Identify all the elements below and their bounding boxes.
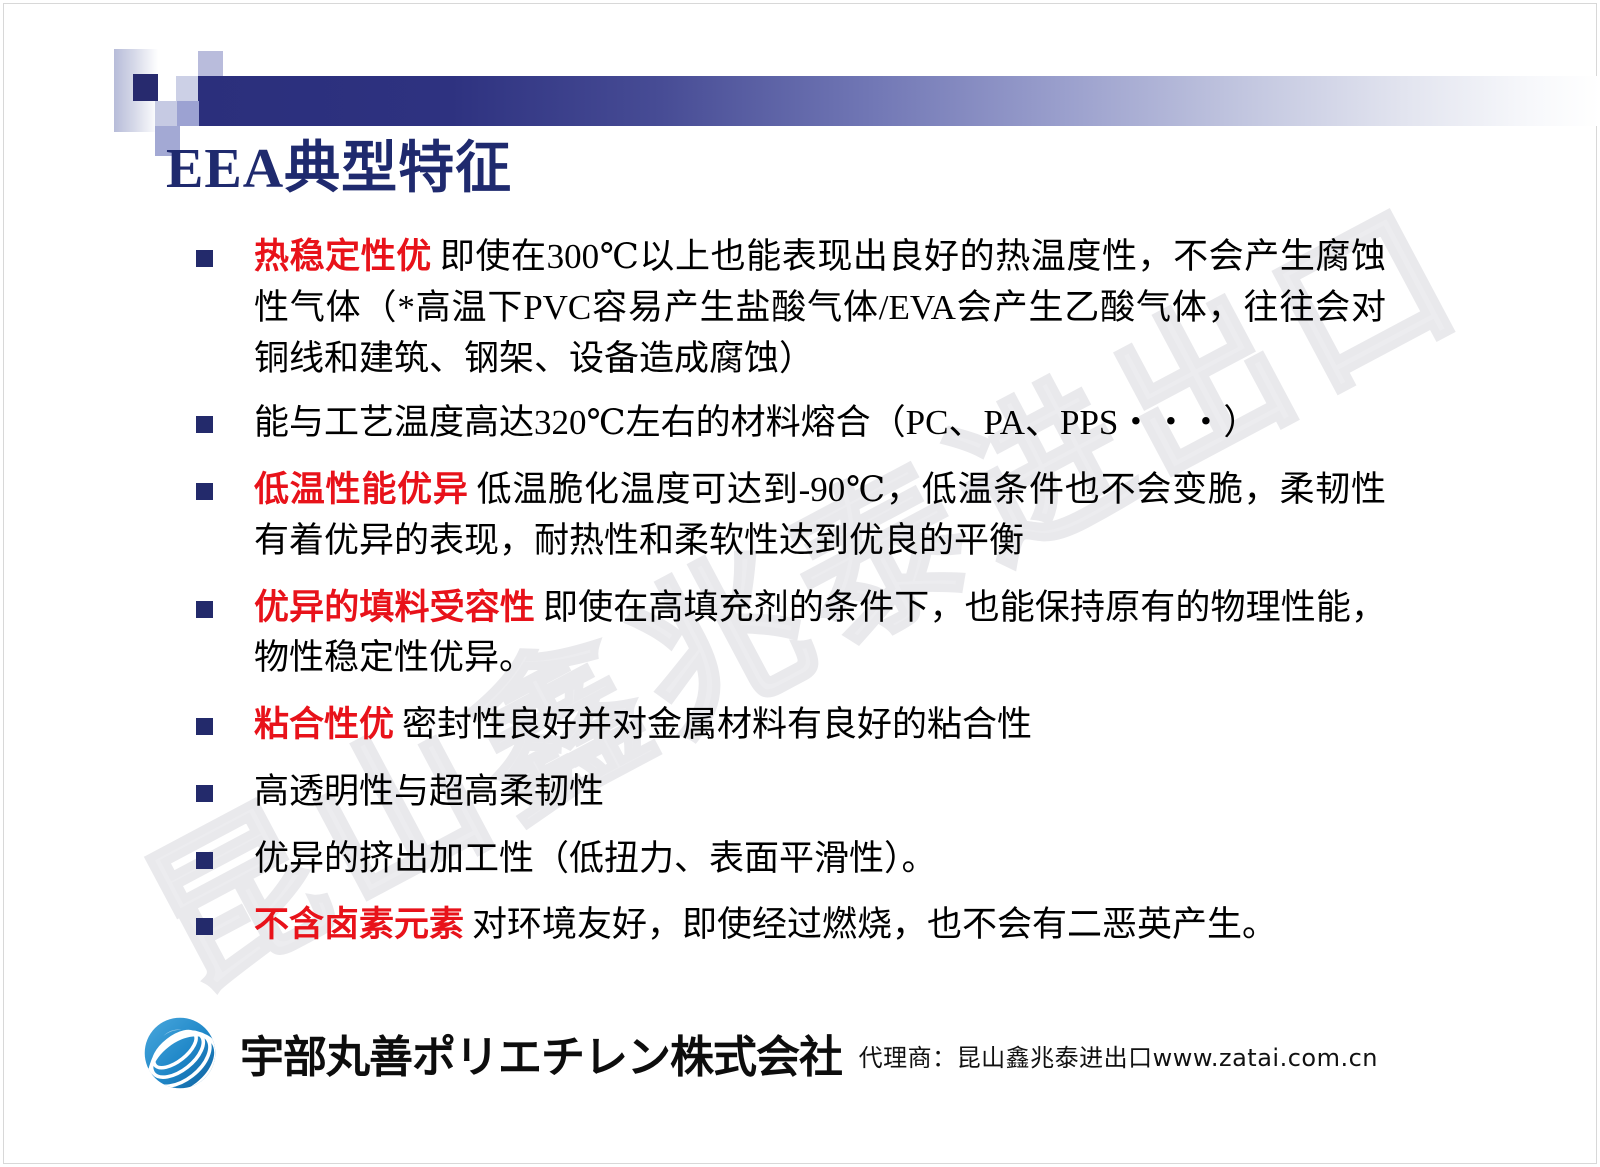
list-item-text: 不含卤素元素对环境友好，即使经过燃烧，也不会有二恶英产生。: [254, 900, 1386, 951]
company-name: 宇部丸善ポリエチレン株式会社: [240, 1021, 842, 1085]
agent-info: 代理商：昆山鑫兆泰进出口www.zatai.com.cn: [859, 1038, 1378, 1073]
list-item: 高透明性与超高柔韧性: [196, 767, 1386, 818]
list-item-text: 优异的挤出加工性（低扭力、表面平滑性）。: [254, 834, 1386, 885]
square-bullet-icon: [196, 718, 213, 735]
list-item: 粘合性优密封性良好并对金属材料有良好的粘合性: [196, 700, 1386, 751]
list-item-lead: 优异的填料受容性: [254, 588, 535, 627]
list-item-body: 高透明性与超高柔韧性: [254, 772, 604, 811]
company-brand: 宇部丸善ポリエチレン株式会社: [138, 1011, 842, 1095]
list-item-lead: 低温性能优异: [254, 470, 469, 509]
deco-square-mid-left: [176, 76, 198, 101]
list-item-body: 优异的挤出加工性（低扭力、表面平滑性）。: [254, 839, 937, 878]
list-item: 热稳定性优即使在300℃以上也能表现出良好的热温度性，不会产生腐蚀性气体（*高温…: [196, 232, 1386, 384]
bullet-list: 热稳定性优即使在300℃以上也能表现出良好的热温度性，不会产生腐蚀性气体（*高温…: [196, 232, 1386, 965]
list-item-body: 能与工艺温度高达320℃左右的材料熔合（PC、PA、PPS・・・）: [254, 403, 1258, 442]
header-gradient-bar: [198, 76, 1600, 126]
list-item-text: 低温性能优异低温脆化温度可达到-90℃，低温条件也不会变脆，柔韧性有着优异的表现…: [254, 465, 1386, 567]
square-bullet-icon: [196, 852, 213, 869]
square-bullet-icon: [196, 416, 213, 433]
list-item: 优异的填料受容性即使在高填充剂的条件下，也能保持原有的物理性能，物性稳定性优异。: [196, 583, 1386, 685]
list-item-lead: 热稳定性优: [254, 237, 432, 276]
slide-footer: 宇部丸善ポリエチレン株式会社 代理商：昆山鑫兆泰进出口www.zatai.com…: [0, 997, 1600, 1167]
square-bullet-icon: [196, 601, 213, 618]
deco-square-low-left: [155, 101, 177, 126]
list-item-text: 热稳定性优即使在300℃以上也能表现出良好的热温度性，不会产生腐蚀性气体（*高温…: [254, 232, 1386, 384]
square-bullet-icon: [196, 483, 213, 500]
page-title: EEA典型特征: [166, 140, 512, 199]
list-item: 优异的挤出加工性（低扭力、表面平滑性）。: [196, 834, 1386, 885]
list-item: 不含卤素元素对环境友好，即使经过燃烧，也不会有二恶英产生。: [196, 900, 1386, 951]
list-item-lead: 粘合性优: [254, 705, 394, 744]
deco-square-top: [198, 51, 223, 76]
list-item-text: 优异的填料受容性即使在高填充剂的条件下，也能保持原有的物理性能，物性稳定性优异。: [254, 583, 1386, 685]
list-item: 能与工艺温度高达320℃左右的材料熔合（PC、PA、PPS・・・）: [196, 398, 1386, 449]
square-bullet-icon: [196, 918, 213, 935]
list-item-body: 对环境友好，即使经过燃烧，也不会有二恶英产生。: [472, 905, 1277, 944]
square-bullet-icon: [196, 785, 213, 802]
list-item-text: 粘合性优密封性良好并对金属材料有良好的粘合性: [254, 700, 1386, 751]
list-item-text: 能与工艺温度高达320℃左右的材料熔合（PC、PA、PPS・・・）: [254, 398, 1386, 449]
list-item-body: 密封性良好并对金属材料有良好的粘合性: [402, 705, 1032, 744]
ube-globe-logo-icon: [138, 1011, 222, 1095]
deco-square-navy: [133, 74, 158, 101]
square-bullet-icon: [196, 250, 213, 267]
list-item: 低温性能优异低温脆化温度可达到-90℃，低温条件也不会变脆，柔韧性有着优异的表现…: [196, 465, 1386, 567]
list-item-lead: 不含卤素元素: [254, 905, 464, 944]
deco-square-low-right: [177, 101, 199, 126]
list-item-text: 高透明性与超高柔韧性: [254, 767, 1386, 818]
presentation-slide: 昆山鑫兆泰进出口 EEA典型特征 热稳定性优即使在300℃以上也能表现出良好的热…: [0, 0, 1600, 1167]
